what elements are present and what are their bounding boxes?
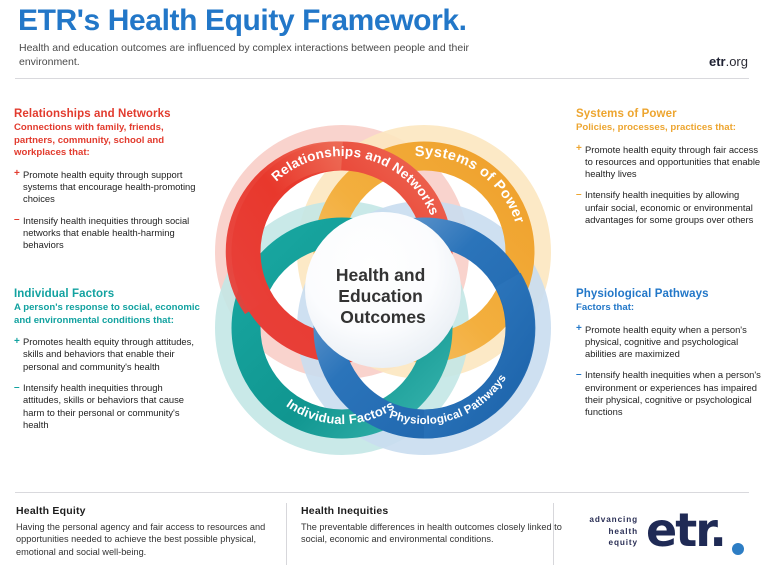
bullet-plus-icon: + (14, 336, 20, 348)
block-bullet-list: +Promote health equity through support s… (14, 169, 200, 252)
logo-tagline: advancing health equity (572, 514, 638, 549)
logo-wordmark: etr. (646, 504, 725, 556)
definition-term: Health Inequities (301, 505, 563, 517)
block-individual-factors: Individual Factors A person's response t… (14, 288, 200, 440)
list-item: +Promote health equity through fair acce… (576, 144, 762, 181)
bullet-text: Promote health equity when a person's ph… (585, 324, 747, 360)
block-subheading: A person's response to social, economic … (14, 302, 200, 327)
definition-health-inequities: Health Inequities The preventable differ… (301, 505, 563, 569)
definition-text: The preventable differences in health ou… (301, 521, 563, 546)
definition-term: Health Equity (16, 505, 278, 517)
block-bullet-list: +Promotes health equity through attitude… (14, 336, 200, 431)
block-subheading: Policies, processes, practices that: (576, 122, 762, 135)
bullet-text: Intensify health inequities through atti… (23, 382, 184, 430)
logo-tagline-line-1: advancing (572, 514, 638, 526)
bullet-minus-icon: – (576, 189, 582, 201)
block-subheading: Factors that: (576, 302, 762, 315)
list-item: +Promote health equity when a person's p… (576, 324, 762, 361)
logo-tagline-line-3: equity (572, 537, 638, 549)
logo-tagline-line-2: health (572, 526, 638, 538)
footer-column-separator-1 (286, 503, 287, 565)
infographic-page: ETR's Health Equity Framework. Health an… (0, 0, 764, 573)
bullet-minus-icon: – (14, 214, 20, 226)
list-item: –Intensify health inequities when a pers… (576, 369, 762, 418)
bullet-text: Promotes health equity through attitudes… (23, 336, 194, 372)
bullet-plus-icon: + (14, 168, 20, 180)
etr-logo[interactable]: advancing health equity etr. (572, 510, 752, 562)
etr-org-link[interactable]: etr.org (709, 54, 748, 69)
bullet-text: Promote health equity through support sy… (23, 169, 196, 205)
block-bullet-list: +Promote health equity through fair acce… (576, 144, 762, 227)
list-item: –Intensify health inequities by allowing… (576, 189, 762, 226)
bullet-plus-icon: + (576, 323, 582, 335)
logo-dot-icon (732, 543, 744, 555)
block-heading: Physiological Pathways (576, 288, 762, 300)
page-title: ETR's Health Equity Framework. (18, 4, 467, 38)
etr-org-suffix: .org (726, 54, 748, 69)
footer-divider (15, 492, 749, 493)
block-heading: Individual Factors (14, 288, 200, 300)
list-item: +Promotes health equity through attitude… (14, 336, 200, 373)
page-subtitle: Health and education outcomes are influe… (19, 41, 489, 69)
list-item: –Intensify health inequities through att… (14, 382, 200, 431)
bullet-text: Promote health equity through fair acces… (585, 144, 760, 180)
bullet-text: Intensify health inequities through soci… (23, 215, 189, 251)
bullet-text: Intensify health inequities by allowing … (585, 189, 753, 225)
bullet-text: Intensify health inequities when a perso… (585, 369, 761, 417)
definition-health-equity: Health Equity Having the personal agency… (16, 505, 278, 569)
block-physiological-pathways: Physiological Pathways Factors that: +Pr… (576, 288, 762, 428)
definition-text: Having the personal agency and fair acce… (16, 521, 278, 558)
health-equity-framework-diagram: Relationships and Networks Systems of Po… (196, 104, 568, 476)
block-bullet-list: +Promote health equity when a person's p… (576, 324, 762, 419)
block-relationships-and-networks: Relationships and Networks Connections w… (14, 108, 200, 261)
block-subheading: Connections with family, friends, partne… (14, 122, 200, 160)
bullet-minus-icon: – (576, 369, 582, 381)
block-systems-of-power: Systems of Power Policies, processes, pr… (576, 108, 762, 235)
page-header: ETR's Health Equity Framework. Health an… (0, 0, 764, 78)
block-heading: Systems of Power (576, 108, 762, 120)
list-item: +Promote health equity through support s… (14, 169, 200, 206)
center-title: Health and Education Outcomes (336, 265, 430, 327)
list-item: –Intensify health inequities through soc… (14, 215, 200, 252)
block-heading: Relationships and Networks (14, 108, 200, 120)
bullet-minus-icon: – (14, 382, 20, 394)
header-divider (15, 78, 749, 79)
bullet-plus-icon: + (576, 143, 582, 155)
etr-org-bold: etr (709, 54, 726, 69)
